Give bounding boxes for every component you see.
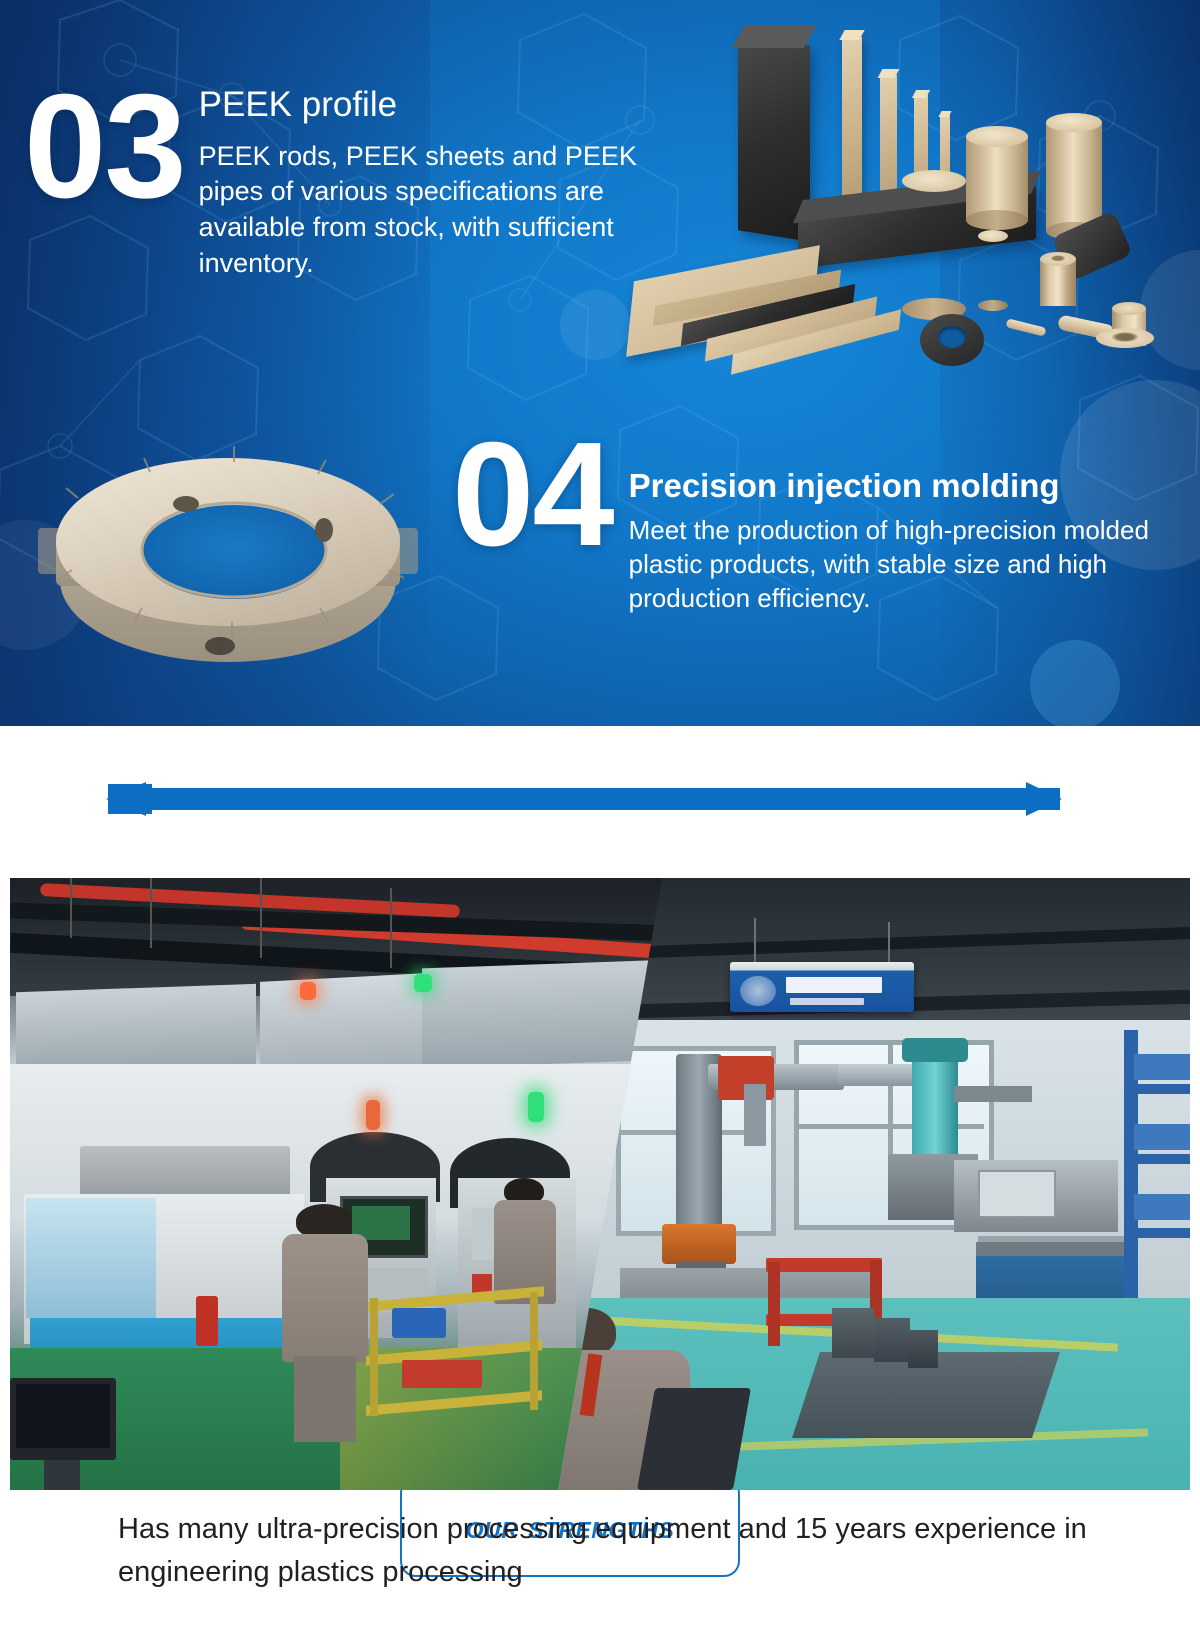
peek-profiles-photo	[620, 18, 1195, 383]
feature-title-04: Precision injection molding	[629, 468, 1172, 504]
feature-block-03: 03 PEEK profile PEEK rods, PEEK sheets a…	[24, 78, 664, 282]
mold-workshop-photo	[558, 878, 1190, 1490]
peek-gear-ring-photo	[28, 392, 428, 677]
photo-caption: Has many ultra-precision processing equi…	[118, 1508, 1098, 1594]
feature-number-03: 03	[24, 82, 185, 212]
double-arrow-decoration	[0, 726, 1200, 878]
feature-block-04: 04 Precision injection molding Meet the …	[452, 430, 1172, 616]
feature-number-04: 04	[452, 430, 613, 560]
strengths-banner: Our strengths	[0, 726, 1200, 878]
hero-panel: 03 PEEK profile PEEK rods, PEEK sheets a…	[0, 0, 1200, 726]
workshop-photo-row	[10, 878, 1190, 1490]
feature-description-04: Meet the production of high-precision mo…	[629, 514, 1172, 615]
cnc-machining-workshop-photo	[10, 878, 670, 1490]
feature-description-03: PEEK rods, PEEK sheets and PEEK pipes of…	[199, 139, 664, 283]
feature-title-03: PEEK profile	[199, 86, 664, 125]
decorative-circle-5	[1030, 640, 1120, 726]
